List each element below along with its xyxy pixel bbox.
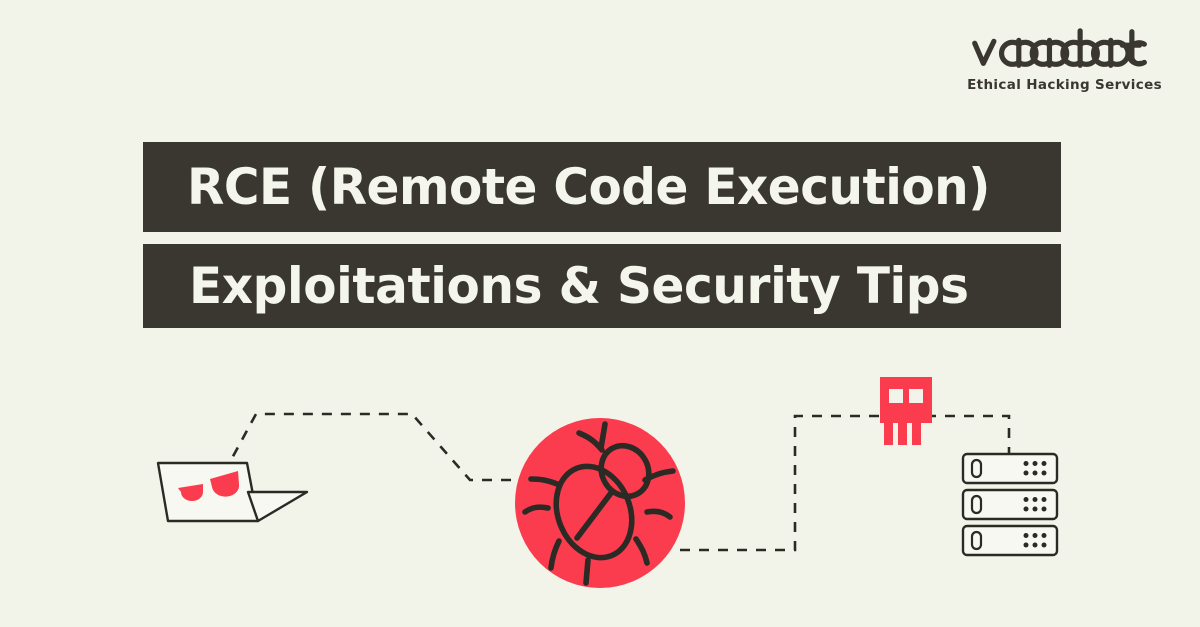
connector-bug-to-servers-icon [680,416,1009,550]
attacker-laptop-icon [158,463,307,521]
server-stack-icon [963,454,1057,555]
title-bar-line-1: RCE (Remote Code Execution) [143,142,1061,232]
server-unit-2-icon [963,490,1057,519]
vaadata-wordmark-icon [967,26,1153,72]
skull-left-eye-icon [889,389,903,403]
server-unit-1-icon [963,454,1057,483]
bug-node-icon [515,418,685,588]
page-title-line-1: RCE (Remote Code Execution) [187,158,990,216]
brand-logo: Ethical Hacking Services [967,26,1162,93]
server-unit-3-icon [963,526,1057,555]
attack-flow-illustration [0,340,1200,610]
logo-tagline: Ethical Hacking Services [967,79,1162,93]
connector-laptop-to-bug-icon [224,414,523,480]
page-title-line-2: Exploitations & Security Tips [189,257,969,315]
poster-canvas: Ethical Hacking Services RCE (Remote Cod… [0,0,1200,627]
title-bar-line-2: Exploitations & Security Tips [143,244,1061,328]
skull-node-icon [880,377,932,445]
skull-right-eye-icon [909,389,923,403]
